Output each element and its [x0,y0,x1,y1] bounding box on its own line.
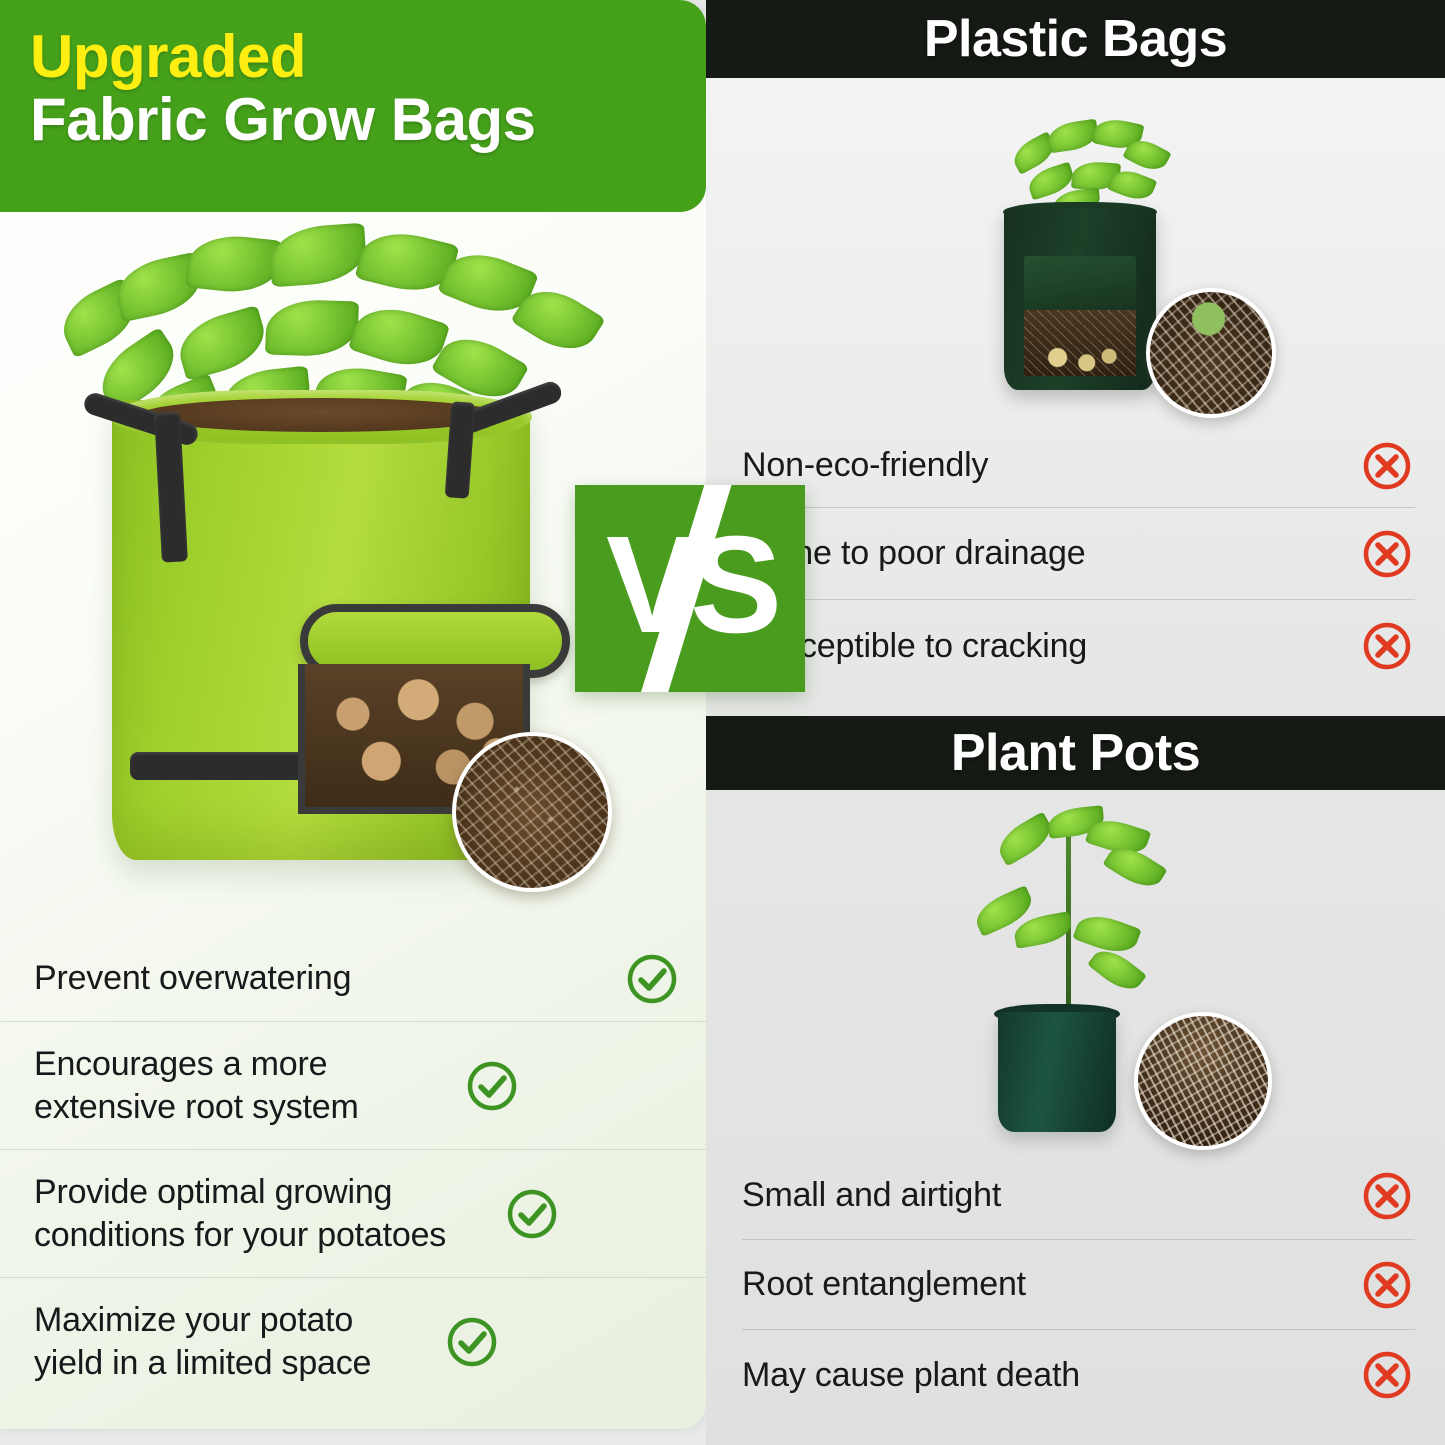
check-circle-icon [504,1186,560,1242]
leaf-shape [185,231,282,296]
x-circle-icon [1359,526,1415,582]
list-item: Prone to poor drainage [742,508,1415,600]
check-circle-icon [444,1314,500,1370]
x-circle-icon [1359,1168,1415,1224]
benefit-label: Maximize your potato yield in a limited … [34,1299,444,1385]
x-circle-icon [1359,1257,1415,1313]
con-label: Susceptible to cracking [742,625,1359,668]
plastic-bags-cons-list: Non-eco-friendly Prone to poor drainage … [706,424,1445,692]
section-title: Plastic Bags [924,9,1227,69]
leaf-shape [1046,119,1099,154]
section-header-plant-pots: Plant Pots [706,716,1445,790]
con-label: Root entanglement [742,1263,1359,1306]
root-closeup-inset [452,732,612,892]
list-item: Small and airtight [742,1152,1415,1240]
leaf-shape [992,812,1057,867]
comparison-column: Plastic Bags Non-eco-friendly [706,0,1445,1445]
plant-pots-cons-list: Small and airtight Root entanglement May… [706,1152,1445,1420]
section-title: Plant Pots [951,723,1200,783]
list-item: May cause plant death [742,1330,1415,1420]
plant-pot-body [998,1012,1116,1132]
list-item: Susceptible to cracking [742,600,1415,692]
plastic-bag-window-potatoes [1024,310,1136,376]
list-item: Maximize your potato yield in a limited … [0,1278,706,1406]
plastic-bag-flap [1024,256,1136,312]
benefits-list: Prevent overwatering Encourages a more e… [0,936,706,1406]
x-circle-icon [1359,438,1415,494]
plastic-bag-photo [706,78,1445,422]
panel-header-banner: Upgraded Fabric Grow Bags [0,0,706,212]
con-label: Small and airtight [742,1174,1359,1217]
section-header-plastic-bags: Plastic Bags [706,0,1445,78]
check-circle-icon [464,1058,520,1114]
con-label: May cause plant death [742,1354,1359,1397]
con-label: Prone to poor drainage [742,532,1359,575]
header-title-line1: Upgraded [30,26,706,88]
root-bound-closeup-inset [1134,1012,1272,1150]
list-item: Provide optimal growing conditions for y… [0,1150,706,1278]
list-item: Non-eco-friendly [742,424,1415,508]
leaf-shape [268,223,368,288]
fabric-grow-bags-panel: Upgraded Fabric Grow Bags [0,0,706,1429]
plant-pot-photo [706,790,1445,1160]
benefit-label: Provide optimal growing conditions for y… [34,1171,504,1257]
list-item: Root entanglement [742,1240,1415,1330]
leaf-shape [265,298,359,357]
list-item: Encourages a more extensive root system [0,1022,706,1150]
x-circle-icon [1359,1347,1415,1403]
benefit-label: Encourages a more extensive root system [34,1043,464,1129]
benefit-label: Prevent overwatering [34,957,624,1000]
con-label: Non-eco-friendly [742,444,1359,487]
leaf-shape [1012,911,1074,949]
versus-badge: VS [575,485,805,692]
x-circle-icon [1359,618,1415,674]
leaf-shape [172,305,271,381]
plastic-bag-soil-closeup-inset [1146,288,1276,418]
check-circle-icon [624,951,680,1007]
header-title-line2: Fabric Grow Bags [30,88,706,153]
tomato-seedling-foliage [956,800,1186,1024]
list-item: Prevent overwatering [0,936,706,1022]
